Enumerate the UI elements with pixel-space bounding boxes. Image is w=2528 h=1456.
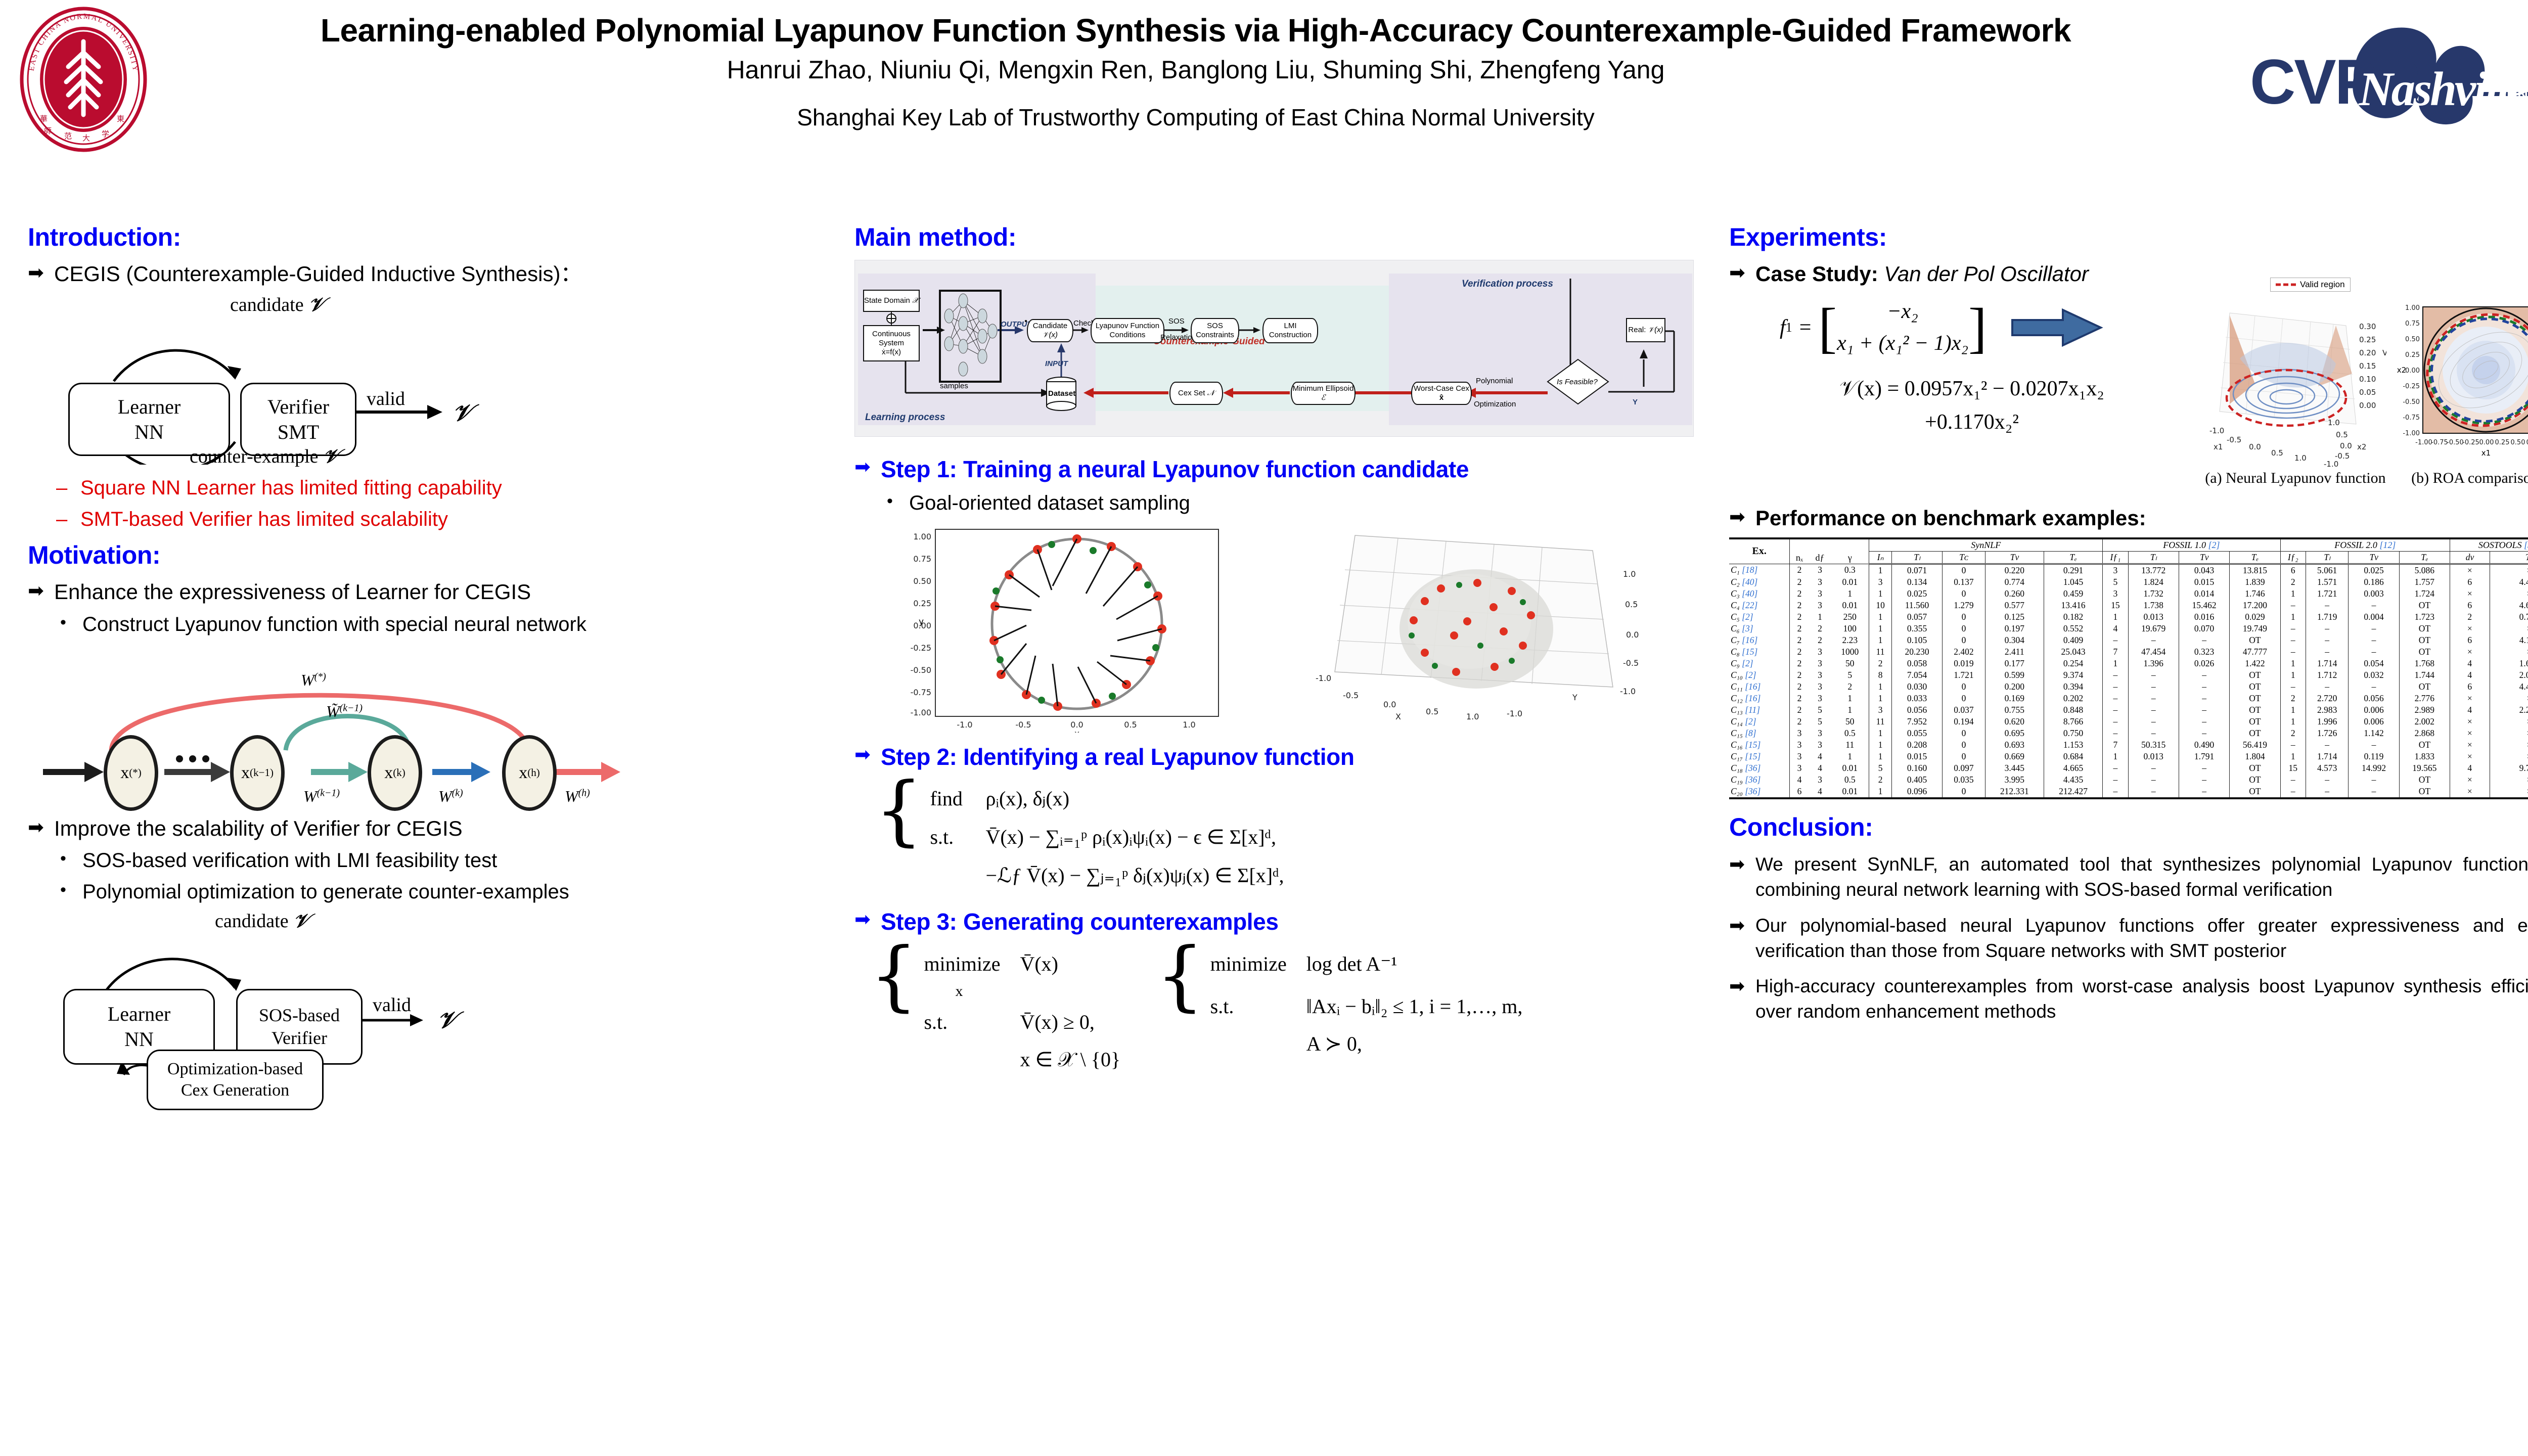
cell-example-id: C₁₂ [16] bbox=[1729, 693, 1790, 704]
cell-value: 1 bbox=[1869, 786, 1892, 798]
cell-value: 50 bbox=[1831, 716, 1869, 727]
cell-value: 0.725 bbox=[2490, 611, 2528, 623]
benchmark-table-body: C₁ [18]230.310.07100.2200.291313.7720.04… bbox=[1729, 564, 2528, 798]
cell-value: 0.003 bbox=[2349, 588, 2399, 600]
header-in: Iₙ bbox=[1869, 551, 1892, 564]
cell-value: 0.291 bbox=[2044, 564, 2102, 576]
cell-value: 0 bbox=[1943, 739, 1985, 751]
svg-text:-0.25: -0.25 bbox=[2403, 383, 2420, 390]
table-row: C₁₉ [36]430.520.4050.0353.9954.435–––OT–… bbox=[1729, 774, 2528, 786]
cell-example-id: C₁₄ [2] bbox=[1729, 716, 1790, 727]
cell-value: 0.220 bbox=[1985, 564, 2044, 576]
cell-value: – bbox=[2306, 600, 2348, 611]
cell-value: 3 bbox=[2103, 564, 2128, 576]
cell-value: 212.331 bbox=[1985, 786, 2044, 798]
cell-value: 1.719 bbox=[2306, 611, 2348, 623]
cell-value: 2.402 bbox=[1943, 646, 1985, 658]
cell-value: 3 bbox=[1809, 727, 1831, 739]
cell-value: – bbox=[2179, 704, 2229, 716]
cell-value: 1 bbox=[1869, 623, 1892, 634]
table-row: C₅ [2]2125010.05700.1250.18210.0130.0160… bbox=[1729, 611, 2528, 623]
svg-text:学: 学 bbox=[102, 129, 109, 139]
cell-value: 2.269 bbox=[2490, 704, 2528, 716]
cell-value: 1.686 bbox=[2490, 658, 2528, 669]
vdp-equation: f1 = [ −x₂ x₁ + (x₁² − 1)x₂ ] bbox=[1729, 296, 2215, 359]
cell-example-id: C₁₅ [8] bbox=[1729, 727, 1790, 739]
svg-text:-0.75: -0.75 bbox=[911, 688, 931, 697]
header-if2: Iƒ₂ bbox=[2280, 551, 2306, 564]
cell-value: 0.409 bbox=[2044, 634, 2102, 646]
svg-text:0.5: 0.5 bbox=[2271, 448, 2283, 458]
cell-value: 25.043 bbox=[2044, 646, 2102, 658]
cell-value: 0.169 bbox=[1985, 693, 2044, 704]
cell-value: 4 bbox=[2450, 762, 2490, 774]
cell-value: OT bbox=[2230, 704, 2280, 716]
cell-value: × bbox=[2490, 751, 2528, 762]
motivation-sub-1-1: • Construct Lyapunov function with speci… bbox=[60, 611, 756, 638]
column-right: Experiments: ➡ Case Study: Van der Pol O… bbox=[1729, 222, 2528, 1035]
cell-value: 5 bbox=[1831, 669, 1869, 681]
svg-text:0.05: 0.05 bbox=[2359, 388, 2376, 397]
cell-value: 2 bbox=[1809, 634, 1831, 646]
cell-value: – bbox=[2179, 774, 2229, 786]
cell-value: 1.723 bbox=[2399, 611, 2450, 623]
cell-value: – bbox=[2179, 693, 2229, 704]
cell-value: 0.208 bbox=[1891, 739, 1942, 751]
cell-value: 4 bbox=[2450, 669, 2490, 681]
svg-text:0.5: 0.5 bbox=[1625, 600, 1638, 609]
plot2d-xlabel: x bbox=[1074, 729, 1079, 733]
cell-value: – bbox=[2128, 693, 2179, 704]
left-brace: { bbox=[1156, 948, 1204, 1075]
cell-value: 3 bbox=[1809, 646, 1831, 658]
introduction-heading: Introduction: bbox=[28, 222, 756, 252]
cell-value: 4.435 bbox=[2044, 774, 2102, 786]
svg-text:0.50: 0.50 bbox=[913, 576, 931, 586]
cell-example-id: C₁₉ [36] bbox=[1729, 774, 1790, 786]
cell-value: – bbox=[2179, 669, 2229, 681]
cell-value: – bbox=[2349, 600, 2399, 611]
motivation-heading: Motivation: bbox=[28, 540, 756, 570]
right-arrow-icon bbox=[2007, 305, 2108, 350]
cell-value: 0.599 bbox=[1985, 669, 2044, 681]
cell-value: 0.013 bbox=[2128, 751, 2179, 762]
svg-text:-1.0: -1.0 bbox=[2324, 460, 2338, 469]
main-method-heading: Main method: bbox=[854, 222, 1694, 252]
cell-value: 20.230 bbox=[1891, 646, 1942, 658]
cell-value: 7.952 bbox=[1891, 716, 1942, 727]
cell-value: 0 bbox=[1943, 623, 1985, 634]
cell-value: 1 bbox=[1869, 693, 1892, 704]
valid-region-legend: Valid region bbox=[2270, 278, 2351, 292]
svg-text:-0.5: -0.5 bbox=[2227, 435, 2241, 444]
cell-value: 0.057 bbox=[1891, 611, 1942, 623]
cell-example-id: C₂₀ [36] bbox=[1729, 786, 1790, 798]
real-v-box: Real: 𝒱(x) bbox=[1626, 318, 1665, 342]
cell-value: 0.459 bbox=[2044, 588, 2102, 600]
cell-value: – bbox=[2280, 774, 2306, 786]
cell-value: 1.791 bbox=[2179, 751, 2229, 762]
svg-text:0.0: 0.0 bbox=[1383, 700, 1396, 709]
svg-text:0.25: 0.25 bbox=[2359, 335, 2376, 344]
cell-value: 0.006 bbox=[2349, 704, 2399, 716]
cell-value: 1.045 bbox=[2044, 576, 2102, 588]
cell-value: 4.665 bbox=[2044, 762, 2102, 774]
cell-value: 0 bbox=[1943, 693, 1985, 704]
cell-value: 2.989 bbox=[2399, 704, 2450, 716]
cell-value: 5.086 bbox=[2399, 564, 2450, 576]
neural-lyapunov-3d-figure: 0.300.250.20 0.150.100.05 0.00 V -1.0-0.… bbox=[2209, 298, 2386, 470]
cell-value: 7 bbox=[2103, 646, 2128, 658]
cell-value: – bbox=[2103, 634, 2128, 646]
svg-text:0.00: 0.00 bbox=[2359, 401, 2376, 410]
plot3d-ylabel: Y bbox=[1572, 693, 1577, 702]
cell-value: 2 bbox=[1790, 634, 1809, 646]
header-df: dƒ bbox=[1809, 538, 1831, 564]
cell-value: 0.016 bbox=[2179, 611, 2229, 623]
feasible-yes-label: Y bbox=[1633, 398, 1638, 406]
experiments-heading: Experiments: bbox=[1729, 222, 2528, 252]
header-if1: Iƒ₁ bbox=[2103, 551, 2128, 564]
svg-text:0.75: 0.75 bbox=[913, 554, 931, 564]
cell-value: 0.030 bbox=[1891, 681, 1942, 693]
svg-text:-0.5: -0.5 bbox=[1343, 691, 1359, 700]
cell-value: 1.142 bbox=[2349, 727, 2399, 739]
table-row: C₂₀ [36]640.0110.0960212.331212.427–––OT… bbox=[1729, 786, 2528, 798]
cell-value: 5.061 bbox=[2306, 564, 2348, 576]
neural-network-diagram: x(*) x(k−1) x(k) x(h) W(*) W̃(k−1) W(k−1… bbox=[28, 642, 736, 808]
cell-value: 1 bbox=[1831, 693, 1869, 704]
left-brace: { bbox=[875, 783, 923, 891]
cell-value: 50 bbox=[1831, 658, 1869, 669]
step3-heading-row: ➡ Step 3: Generating counterexamples bbox=[854, 906, 1694, 937]
cell-value: 1.746 bbox=[2230, 588, 2280, 600]
conclusion-heading: Conclusion: bbox=[1729, 812, 2528, 842]
cell-value: × bbox=[2490, 716, 2528, 727]
conclusion-bullet-1: ➡ We present SynNLF, an automated tool t… bbox=[1729, 852, 2528, 903]
cell-value: 0.054 bbox=[2349, 658, 2399, 669]
cell-example-id: C₈ [15] bbox=[1729, 646, 1790, 658]
cell-value: 0.405 bbox=[1891, 774, 1942, 786]
cell-value: 2 bbox=[1790, 611, 1809, 623]
cell-value: 3 bbox=[1809, 693, 1831, 704]
cell-value: × bbox=[2490, 739, 2528, 751]
cell-value: 3 bbox=[1809, 774, 1831, 786]
cell-value: 0.194 bbox=[1943, 716, 1985, 727]
cell-value: 1.768 bbox=[2399, 658, 2450, 669]
cell-example-id: C₆ [3] bbox=[1729, 623, 1790, 634]
cell-value: – bbox=[2349, 623, 2399, 634]
svg-text:1.0: 1.0 bbox=[2294, 453, 2307, 463]
svg-text:大: 大 bbox=[82, 133, 90, 143]
cell-value: 1.714 bbox=[2306, 751, 2348, 762]
cell-value: 1000 bbox=[1831, 646, 1869, 658]
improved-cegis-diagram: candidate 𝒱 Learner NN SOS-based Verifie… bbox=[38, 909, 746, 1101]
cell-value: × bbox=[2450, 588, 2490, 600]
cell-value: × bbox=[2490, 564, 2528, 576]
cell-value: 47.777 bbox=[2230, 646, 2280, 658]
cell-value: OT bbox=[2230, 681, 2280, 693]
cell-value: 0.202 bbox=[2044, 693, 2102, 704]
svg-text:范: 范 bbox=[64, 131, 72, 141]
cell-value: 0.026 bbox=[2179, 658, 2229, 669]
cell-value: 7.054 bbox=[1891, 669, 1942, 681]
header-gamma: γ bbox=[1831, 538, 1869, 564]
step3-left-formula: { minimize V̄(x) x s.t. V̄(x) ≥ 0, x ∈ 𝒳… bbox=[870, 948, 1120, 1075]
svg-text:0.0: 0.0 bbox=[2340, 441, 2352, 450]
cvpr-logo: CVPR Nashville JUNE 11-15, 2025 bbox=[2245, 15, 2528, 142]
nn-weight-k-minus-1: W(k−1) bbox=[303, 787, 340, 806]
cell-value: – bbox=[2128, 762, 2179, 774]
header-tv-3: Tᴠ bbox=[2349, 551, 2399, 564]
cell-value: 4 bbox=[2450, 658, 2490, 669]
cell-value: 1 bbox=[1869, 727, 1892, 739]
cell-value: 0.014 bbox=[2179, 588, 2229, 600]
step1-plots: 1.000.750.50 0.250.00-0.25 -0.50-0.75-1.… bbox=[854, 520, 1694, 738]
cell-value: – bbox=[2103, 716, 2128, 727]
table-row: C₁₈ [36]340.0150.1600.0973.4454.665–––OT… bbox=[1729, 762, 2528, 774]
cell-value: 0.004 bbox=[2349, 611, 2399, 623]
conclusion-bullet-2: ➡ Our polynomial-based neural Lyapunov f… bbox=[1729, 913, 2528, 964]
dash-bullet-icon: – bbox=[56, 506, 80, 532]
cell-value: 4.573 bbox=[2306, 762, 2348, 774]
svg-text:0.25: 0.25 bbox=[2495, 439, 2510, 446]
svg-text:-1.0: -1.0 bbox=[1620, 687, 1636, 696]
cell-value: 2.983 bbox=[2306, 704, 2348, 716]
cell-value: 0.029 bbox=[2230, 611, 2280, 623]
cell-value: OT bbox=[2399, 774, 2450, 786]
cell-example-id: C₁₇ [15] bbox=[1729, 751, 1790, 762]
cell-value: 11 bbox=[1869, 646, 1892, 658]
cell-value: 2 bbox=[1790, 576, 1809, 588]
cell-value: – bbox=[2128, 716, 2179, 727]
header-tv-2: Tᴠ bbox=[2179, 551, 2229, 564]
header-tl-1: Tₗ bbox=[1891, 551, 1942, 564]
cex-set-box: Cex Set 𝒩 bbox=[1169, 382, 1223, 405]
cell-value: – bbox=[2349, 646, 2399, 658]
sos-constraints-box: SOS Constraints bbox=[1191, 318, 1239, 343]
cell-value: – bbox=[2128, 681, 2179, 693]
cell-value: 1 bbox=[1869, 739, 1892, 751]
cell-value: 2 bbox=[1790, 681, 1809, 693]
svg-text:-1.00: -1.00 bbox=[2415, 439, 2432, 446]
nn-weight-skip-star: W(*) bbox=[301, 671, 326, 690]
cell-value: × bbox=[2450, 693, 2490, 704]
group-sostools: SOSTOOLS [31] bbox=[2450, 538, 2528, 552]
cell-value: 2.868 bbox=[2399, 727, 2450, 739]
cell-value: 0.032 bbox=[2349, 669, 2399, 681]
step2-formula: { find ρᵢ(x), δⱼ(x) s.t. V̄(x) − ∑ᵢ₌₁ᵖ ρ… bbox=[875, 783, 1694, 891]
cell-value: 0.056 bbox=[2349, 693, 2399, 704]
cell-value: – bbox=[2306, 774, 2348, 786]
cell-value: 47.454 bbox=[2128, 646, 2179, 658]
cell-value: – bbox=[2128, 669, 2179, 681]
cell-value: 0 bbox=[1943, 786, 1985, 798]
sampling-3d-plot: 1.00.50.0 -0.5-1.0 -1.0-0.50.0 0.51.0 -1… bbox=[1289, 520, 1689, 733]
cell-value: – bbox=[2349, 739, 2399, 751]
cell-value: 3.445 bbox=[1985, 762, 2044, 774]
dataset-label: Dataset bbox=[1048, 389, 1075, 398]
cell-value: 1.996 bbox=[2306, 716, 2348, 727]
cell-value: 3 bbox=[1809, 681, 1831, 693]
cell-value: 0 bbox=[1943, 634, 1985, 646]
cell-value: 56.419 bbox=[2230, 739, 2280, 751]
cell-value: 1 bbox=[1869, 634, 1892, 646]
cell-value: 4 bbox=[1790, 774, 1809, 786]
cell-value: 1 bbox=[1809, 611, 1831, 623]
cell-value: 0.490 bbox=[2179, 739, 2229, 751]
cell-value: 1 bbox=[1869, 751, 1892, 762]
cell-value: 0.070 bbox=[2179, 623, 2229, 634]
intro-bullet-cegis: ➡ CEGIS (Counterexample-Guided Inductive… bbox=[28, 260, 756, 288]
figure-b-caption: (b) ROA comparison bbox=[2386, 470, 2528, 487]
cell-value: – bbox=[2128, 704, 2179, 716]
svg-text:-0.25: -0.25 bbox=[911, 643, 931, 653]
group-synnlf: SynNLF bbox=[1869, 538, 2103, 552]
cell-value: 1.396 bbox=[2128, 658, 2179, 669]
cell-value: 0.394 bbox=[2044, 681, 2102, 693]
cell-value: 1.712 bbox=[2306, 669, 2348, 681]
limitation-2: – SMT-based Verifier has limited scalabi… bbox=[56, 506, 756, 532]
header-tl-3: Tₗ bbox=[2306, 551, 2348, 564]
cell-value: 7 bbox=[2103, 739, 2128, 751]
cell-example-id: C₁₀ [2] bbox=[1729, 669, 1790, 681]
cell-value: 3 bbox=[1809, 564, 1831, 576]
cell-value: OT bbox=[2399, 623, 2450, 634]
cell-value: 2.411 bbox=[1985, 646, 2044, 658]
cell-value: 2.002 bbox=[2399, 716, 2450, 727]
fig-b-ylabel: x2 bbox=[2397, 366, 2406, 375]
table-row: C₉ [2]235020.0580.0190.1770.25411.3960.0… bbox=[1729, 658, 2528, 669]
dot-bullet-icon: • bbox=[60, 879, 82, 905]
cell-value: 4 bbox=[2450, 704, 2490, 716]
page-title: Learning-enabled Polynomial Lyapunov Fun… bbox=[167, 13, 2225, 49]
cell-value: 1 bbox=[2280, 716, 2306, 727]
cell-value: – bbox=[2349, 634, 2399, 646]
cell-example-id: C₁₃ [11] bbox=[1729, 704, 1790, 716]
samples-label: samples bbox=[940, 382, 968, 390]
cell-value: 0.620 bbox=[1985, 716, 2044, 727]
cell-value: 2 bbox=[1790, 704, 1809, 716]
cell-value: OT bbox=[2399, 786, 2450, 798]
cell-example-id: C₁₆ [15] bbox=[1729, 739, 1790, 751]
cell-value: × bbox=[2490, 727, 2528, 739]
cell-value: – bbox=[2349, 774, 2399, 786]
cell-value: – bbox=[2306, 739, 2348, 751]
cell-value: 9.374 bbox=[2044, 669, 2102, 681]
cell-value: 3 bbox=[1809, 600, 1831, 611]
cell-value: OT bbox=[2399, 634, 2450, 646]
cell-value: 1 bbox=[2280, 751, 2306, 762]
cell-value: 6 bbox=[2450, 634, 2490, 646]
cell-value: 4.113 bbox=[2490, 634, 2528, 646]
cell-value: – bbox=[2280, 681, 2306, 693]
cell-value: 5 bbox=[1809, 704, 1831, 716]
group-fossil2: FOSSIL 2.0 [12] bbox=[2280, 538, 2450, 552]
cell-value: 6 bbox=[1790, 786, 1809, 798]
cell-value: – bbox=[2103, 681, 2128, 693]
cell-value: 2 bbox=[1790, 623, 1809, 634]
cell-value: 8.766 bbox=[2044, 716, 2102, 727]
svg-text:0.5: 0.5 bbox=[1124, 720, 1137, 730]
cell-value: × bbox=[2450, 751, 2490, 762]
svg-text:0.20: 0.20 bbox=[2359, 348, 2376, 357]
step3-right-formula: { minimize log det A⁻¹ s.t. ‖Axᵢ − bᵢ‖₂ … bbox=[1156, 948, 1522, 1075]
cell-value: 0.071 bbox=[1891, 564, 1942, 576]
cell-value: 0.848 bbox=[2044, 704, 2102, 716]
cell-value: × bbox=[2450, 564, 2490, 576]
cell-value: 2 bbox=[1869, 774, 1892, 786]
cell-value: – bbox=[2179, 634, 2229, 646]
cell-value: 0.137 bbox=[1943, 576, 1985, 588]
motivation-point-1: ➡ Enhance the expressiveness of Learner … bbox=[28, 578, 756, 606]
step2-heading: Step 2: Identifying a real Lyapunov func… bbox=[881, 742, 1355, 772]
cell-value: 1.804 bbox=[2230, 751, 2280, 762]
svg-text:0.00: 0.00 bbox=[2479, 439, 2494, 446]
cell-value: 1.721 bbox=[2306, 588, 2348, 600]
cell-value: 1.721 bbox=[1943, 669, 1985, 681]
svg-text:-1.0: -1.0 bbox=[1316, 673, 1331, 683]
table-row: C₁ [18]230.310.07100.2200.291313.7720.04… bbox=[1729, 564, 2528, 576]
cell-value: 0.119 bbox=[2349, 751, 2399, 762]
cell-value: OT bbox=[2399, 646, 2450, 658]
svg-text:-1.0: -1.0 bbox=[957, 720, 972, 730]
cell-value: – bbox=[2306, 681, 2348, 693]
svg-text:0.0: 0.0 bbox=[1070, 720, 1083, 730]
lyapunov-result: 𝒱(x) = 0.0957x₁² − 0.0207x₁x₂ +0.1170x₂² bbox=[1729, 373, 2215, 438]
cell-value: 0 bbox=[1943, 611, 1985, 623]
cell-value: – bbox=[2280, 634, 2306, 646]
cell-value: 0.182 bbox=[2044, 611, 2102, 623]
column-left: Introduction: ➡ CEGIS (Counterexample-Gu… bbox=[28, 222, 756, 1101]
fig-a-ylabel: x2 bbox=[2357, 442, 2366, 451]
svg-text:0.50: 0.50 bbox=[2511, 439, 2525, 446]
cell-value: – bbox=[2103, 693, 2128, 704]
cell-value: 19.749 bbox=[2230, 623, 2280, 634]
cell-value: OT bbox=[2230, 693, 2280, 704]
experiment-figures: Valid region bbox=[2215, 293, 2528, 490]
cell-value: 0.025 bbox=[1891, 588, 1942, 600]
cell-value: 4 bbox=[2103, 623, 2128, 634]
cell-value: 3 bbox=[2103, 588, 2128, 600]
cell-value: 2.720 bbox=[2306, 693, 2348, 704]
valid-label-2: valid bbox=[373, 994, 411, 1016]
cell-value: OT bbox=[2230, 762, 2280, 774]
svg-text:0.5: 0.5 bbox=[2336, 430, 2348, 439]
valid-label: valid bbox=[367, 388, 405, 410]
cell-value: – bbox=[2103, 786, 2128, 798]
cell-example-id: C₃ [40] bbox=[1729, 588, 1790, 600]
cell-value: – bbox=[2280, 623, 2306, 634]
left-brace: { bbox=[870, 948, 918, 1075]
svg-text:東: 東 bbox=[117, 114, 124, 123]
column-center: Main method: Verification process Learni… bbox=[854, 222, 1694, 1075]
cell-value: 5 bbox=[1809, 716, 1831, 727]
cell-value: 1.839 bbox=[2230, 576, 2280, 588]
cell-value: 11 bbox=[1831, 739, 1869, 751]
arrow-bullet-icon: ➡ bbox=[28, 260, 54, 288]
cell-value: OT bbox=[2399, 681, 2450, 693]
case-study-row: ➡ Case Study: Van der Pol Oscillator bbox=[1729, 260, 2528, 288]
svg-text:-0.50: -0.50 bbox=[911, 665, 931, 675]
cell-value: 0.695 bbox=[1985, 727, 2044, 739]
cell-value: 3 bbox=[1809, 669, 1831, 681]
roa-comparison-figure: 1.000.750.50 0.250.00-0.25 -0.50-0.75-1.… bbox=[2386, 298, 2528, 470]
cell-value: 1 bbox=[1869, 588, 1892, 600]
cex-generation-box: Optimization-based Cex Generation bbox=[147, 1050, 324, 1110]
cell-value: 15 bbox=[2103, 600, 2128, 611]
cell-value: 3 bbox=[1809, 658, 1831, 669]
